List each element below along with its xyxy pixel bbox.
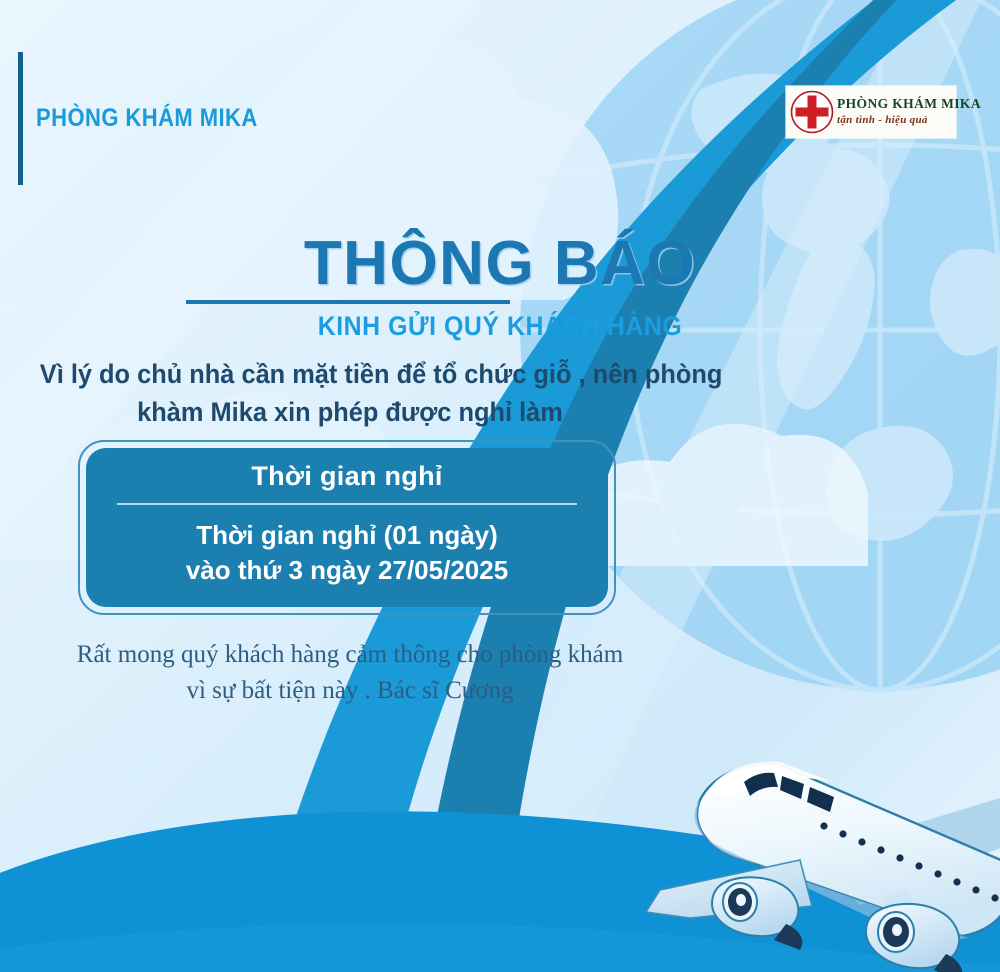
closure-info-card-inner: Thời gian nghỉ Thời gian nghỉ (01 ngày) … <box>86 448 608 607</box>
page-subtitle: KINH GỬI QUÝ KHÁCH HÀNG <box>40 310 960 342</box>
closure-date: vào thứ 3 ngày 27/05/2025 <box>186 553 508 588</box>
logo-name: PHÒNG KHÁM MIKA <box>837 97 981 112</box>
closure-card-divider <box>117 503 576 505</box>
logo-slogan: tận tình - hiệu quả <box>837 114 981 127</box>
closing-note-line-1: Rất mong quý khách hàng cảm thông cho ph… <box>20 637 680 673</box>
announcement-body-line-2: khàm Mika xin phép được nghỉ làm <box>40 393 660 431</box>
red-cross-icon <box>789 89 835 135</box>
announcement-body-line-1: Vì lý do chủ nhà cần mặt tiền để tổ chức… <box>40 355 660 393</box>
title-underline <box>186 300 510 304</box>
closure-card-body: Thời gian nghỉ (01 ngày) vào thứ 3 ngày … <box>186 505 508 607</box>
poster-canvas: PHÒNG KHÁM MIKA PHÒNG KHÁM MIKA tận tình… <box>0 0 1000 972</box>
closing-note: Rất mong quý khách hàng cảm thông cho ph… <box>20 637 680 710</box>
closure-card-title: Thời gian nghỉ <box>86 448 608 503</box>
clinic-logo: PHÒNG KHÁM MIKA tận tình - hiệu quả <box>786 86 956 138</box>
closure-info-card: Thời gian nghỉ Thời gian nghỉ (01 ngày) … <box>78 440 616 615</box>
announcement-body: Vì lý do chủ nhà cần mặt tiền để tổ chức… <box>40 355 660 432</box>
closure-duration: Thời gian nghỉ (01 ngày) <box>196 518 498 553</box>
page-title: THÔNG BÁO <box>0 233 1000 295</box>
header-accent-rule <box>18 52 23 185</box>
closing-note-line-2: vì sự bất tiện này . Bác sĩ Cương <box>20 673 680 709</box>
brand-title: PHÒNG KHÁM MIKA <box>36 104 258 133</box>
